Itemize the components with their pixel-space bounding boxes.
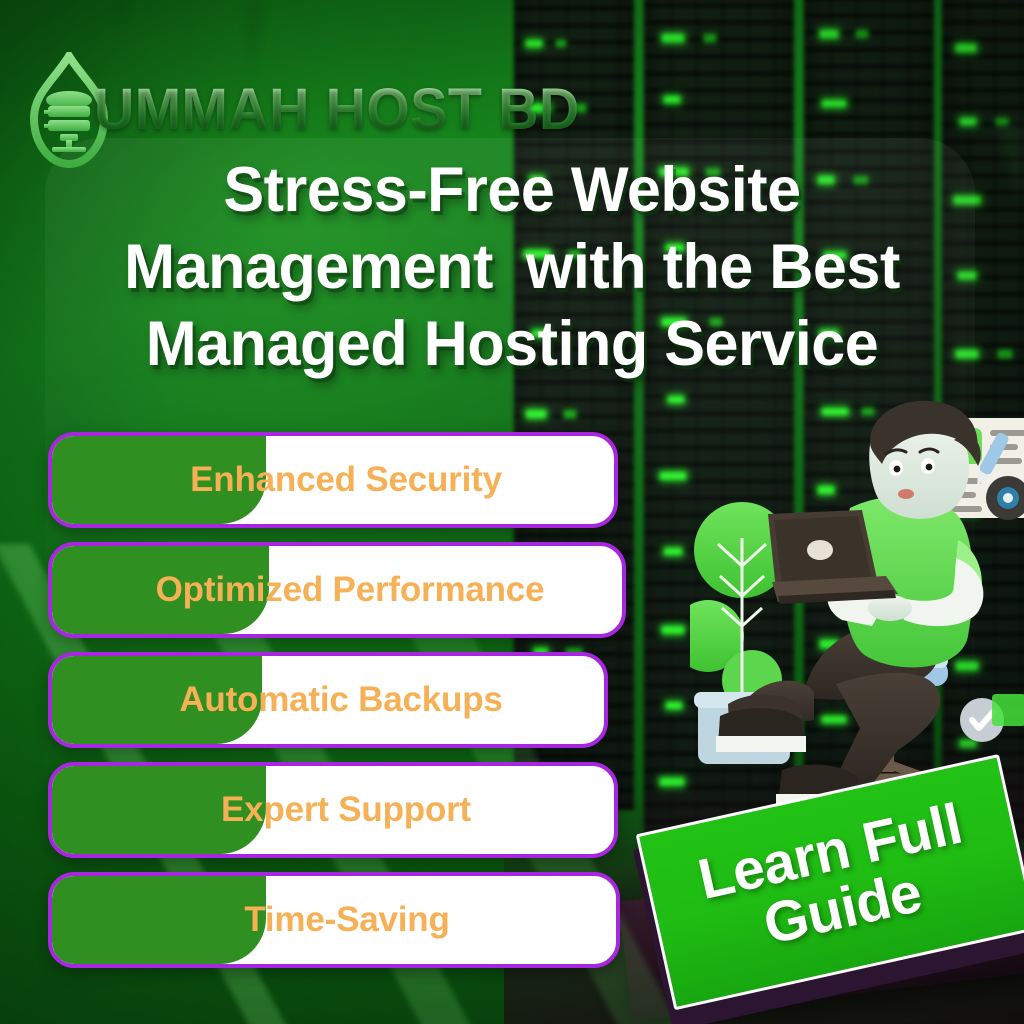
promo-graphic: UMMAH HOST BD Stress-Free Website Manage…: [0, 0, 1024, 1024]
feature-pill-automatic-backups[interactable]: Automatic Backups: [48, 652, 608, 748]
feature-label: Enhanced Security: [52, 460, 614, 500]
feature-pill-enhanced-security[interactable]: Enhanced Security: [48, 432, 618, 528]
feature-label: Automatic Backups: [52, 680, 604, 720]
feature-list: Enhanced Security Optimized Performance …: [48, 432, 626, 968]
page-title: Stress-Free Website Management with the …: [83, 152, 940, 383]
feature-pill-time-saving[interactable]: Time-Saving: [48, 872, 620, 968]
brand-name: UMMAH HOST BD: [94, 81, 580, 139]
feature-label: Optimized Performance: [52, 570, 622, 610]
brand-logo[interactable]: UMMAH HOST BD: [26, 52, 600, 168]
illustration-person-working: [690, 398, 1024, 818]
feature-pill-expert-support[interactable]: Expert Support: [48, 762, 618, 858]
server-screen-glow: [992, 694, 1024, 726]
feature-label: Expert Support: [52, 790, 614, 830]
feature-label: Time-Saving: [52, 900, 616, 940]
cta-label: Learn Full Guide: [693, 795, 980, 970]
feature-pill-optimized-performance[interactable]: Optimized Performance: [48, 542, 626, 638]
